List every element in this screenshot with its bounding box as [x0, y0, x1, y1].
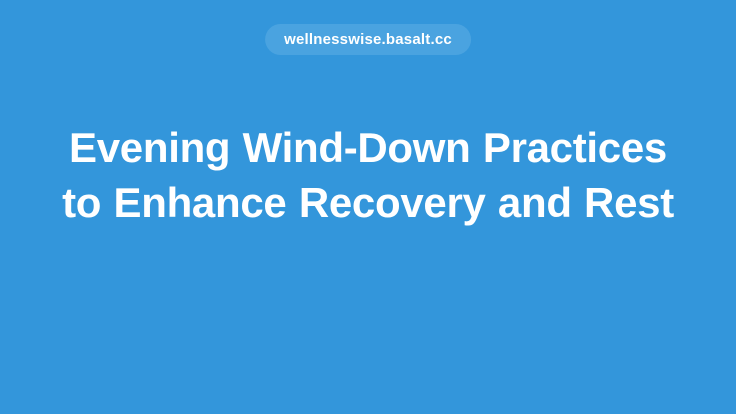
url-badge[interactable]: wellnesswise.basalt.cc — [265, 24, 471, 55]
url-badge-label: wellnesswise.basalt.cc — [284, 32, 452, 47]
hero-title-block: Evening Wind-Down Practices to Enhance R… — [0, 120, 736, 230]
page-title: Evening Wind-Down Practices to Enhance R… — [58, 120, 678, 230]
page-root: wellnesswise.basalt.cc Evening Wind-Down… — [0, 0, 736, 414]
